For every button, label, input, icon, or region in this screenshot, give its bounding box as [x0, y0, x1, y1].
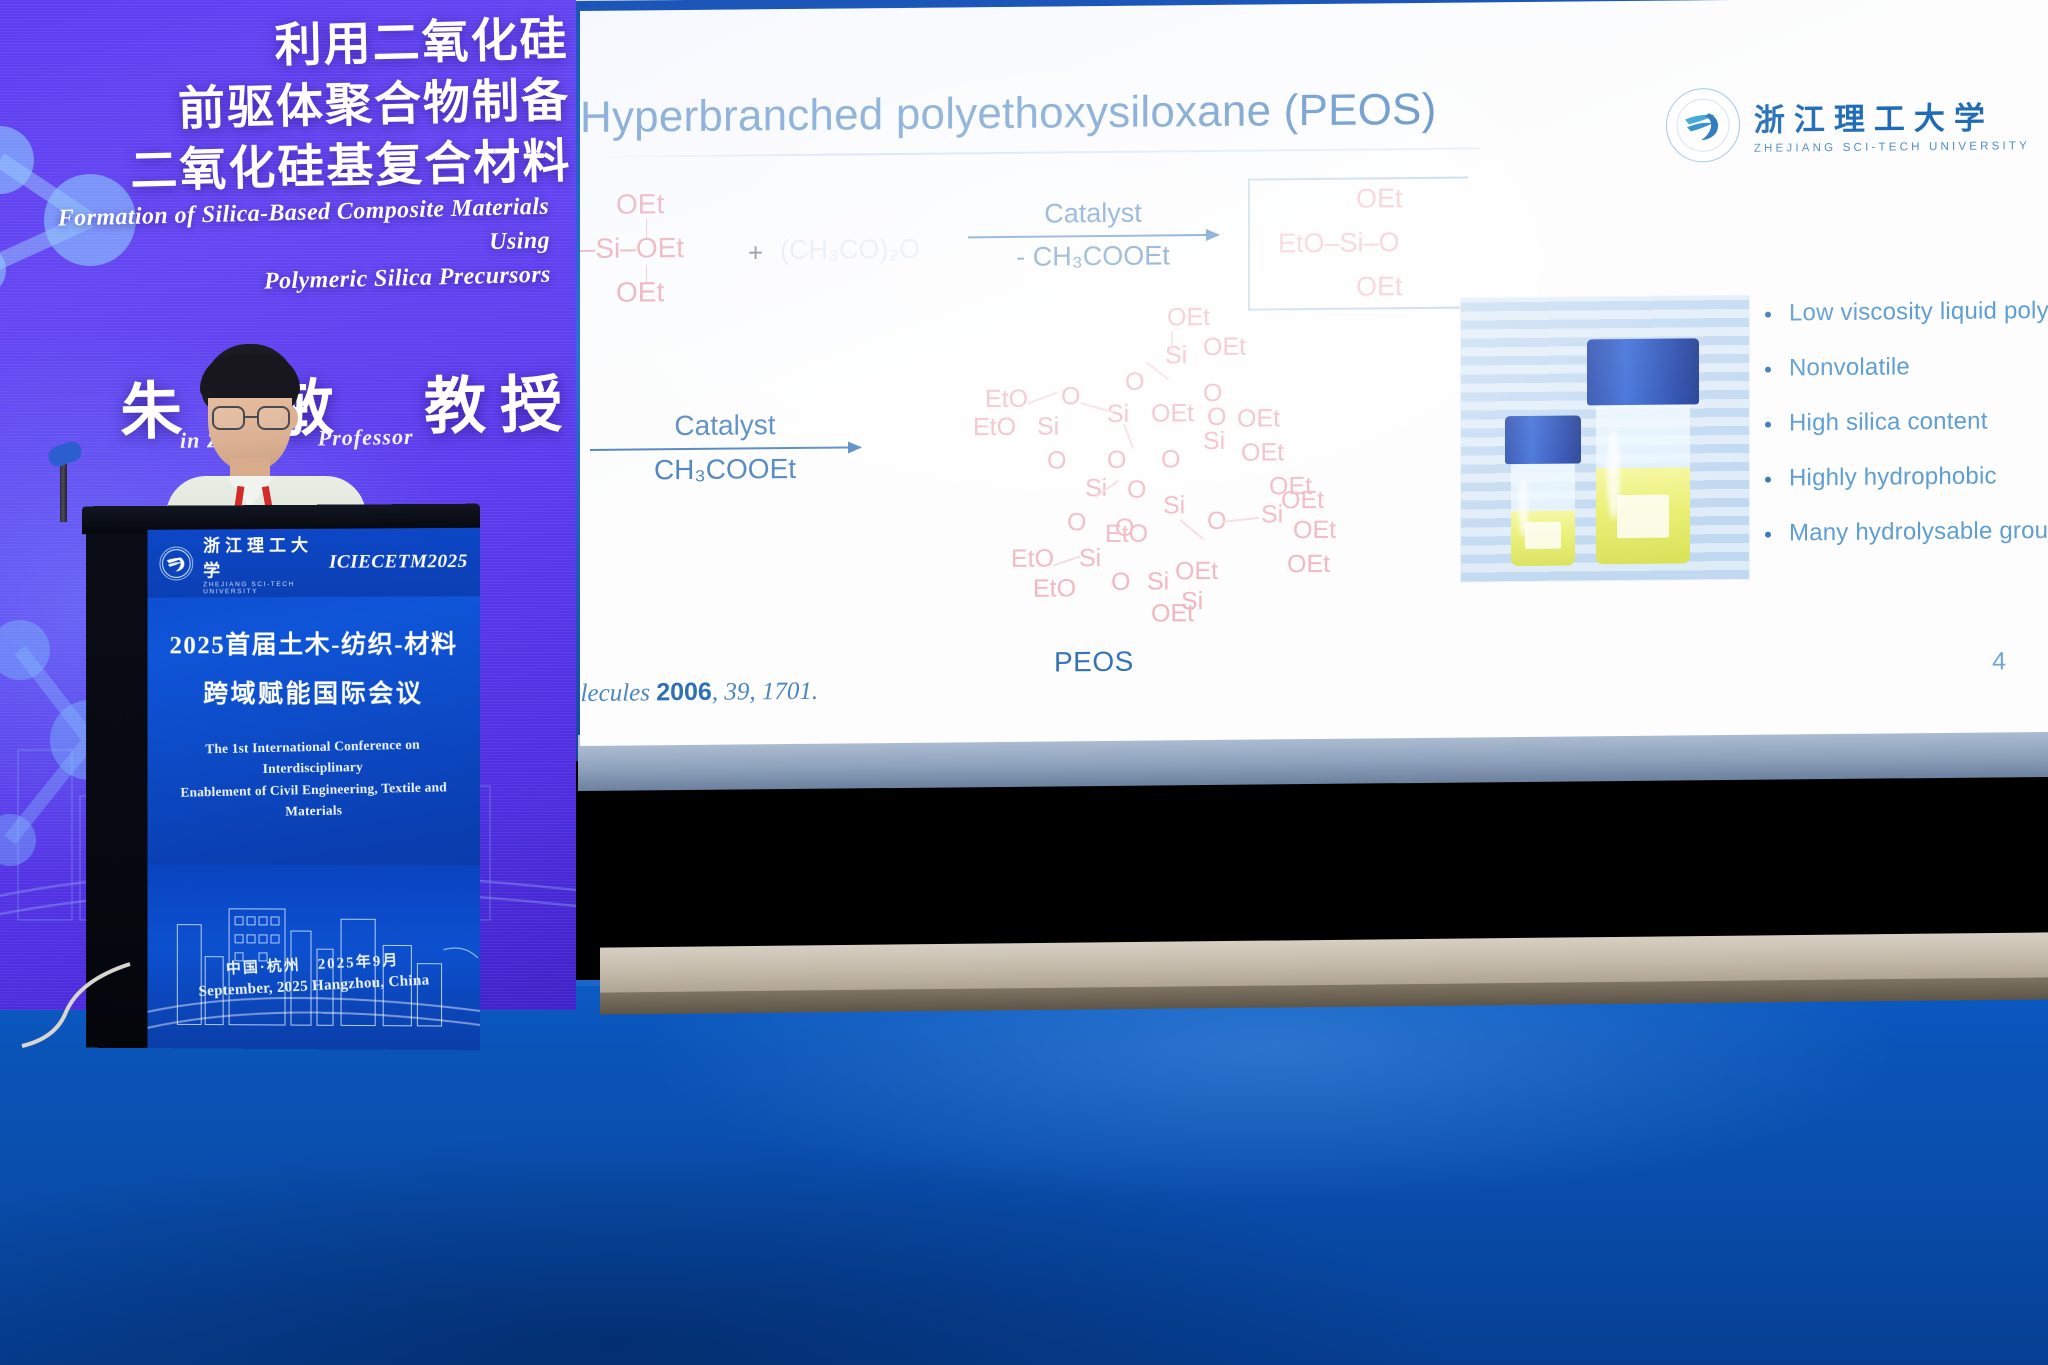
conference-photo: Hyperbranched polyethoxysiloxane (PEOS) … — [0, 0, 2048, 1365]
bullet-dot-icon — [1765, 422, 1771, 428]
speaker-hair-front — [200, 354, 300, 398]
bottle-label — [1617, 494, 1670, 537]
teos-backbone: O–Si–OEt — [580, 234, 684, 263]
teos-oet-bottom: OEt — [616, 278, 664, 306]
peos-atom: EtO — [1011, 544, 1054, 573]
podium: 浙江理工大学 ZHEJIANG SCI-TECH UNIVERSITY ICIE… — [86, 504, 476, 1047]
presentation-slide: Hyperbranched polyethoxysiloxane (PEOS) … — [580, 0, 2048, 746]
podium-header: 浙江理工大学 ZHEJIANG SCI-TECH UNIVERSITY ICIE… — [148, 528, 480, 598]
university-name-en: ZHEJIANG SCI-TECH UNIVERSITY — [1754, 140, 2030, 155]
list-item: Nonvolatile — [1765, 352, 2048, 383]
feature-bullet-list: Low viscosity liquid polymer Nonvolatile… — [1765, 297, 2048, 575]
podium-logo-text: 浙江理工大学 ZHEJIANG SCI-TECH UNIVERSITY — [203, 531, 319, 596]
bottle-large — [1587, 338, 1699, 564]
peos-atom: OEt — [1151, 599, 1194, 628]
reaction-arrow-bottom: Catalyst CH₃COOEt — [590, 408, 860, 487]
peos-atom: EtO — [1105, 520, 1148, 549]
podium-microphone — [46, 452, 86, 522]
peos-atom: Si — [1203, 427, 1225, 456]
catalyst-label-top: Catalyst — [968, 197, 1218, 230]
peos-atom: O — [1107, 446, 1126, 475]
peos-atom: O — [1061, 382, 1080, 411]
peos-atom: Si — [1163, 491, 1185, 520]
slide-citation: molecules 2006, 39, 1701. — [580, 677, 818, 709]
podium-university-cn: 浙江理工大学 — [203, 531, 319, 582]
university-name-block: 浙江理工大学 ZHEJIANG SCI-TECH UNIVERSITY — [1754, 92, 2030, 155]
conference-title-cn-line2: 跨域赋能国际会议 — [163, 674, 463, 711]
projection-screen: Hyperbranched polyethoxysiloxane (PEOS) … — [580, 0, 2048, 746]
peos-atom: Si — [1165, 341, 1187, 370]
bullet-dot-icon — [1765, 477, 1771, 483]
university-name-cn: 浙江理工大学 — [1754, 92, 2030, 140]
arrow-shaft-icon — [968, 234, 1218, 238]
conference-title-en: The 1st International Conference on Inte… — [163, 733, 465, 825]
bullet-label: Low viscosity liquid polymer — [1789, 297, 2048, 328]
list-item: Many hydrolysable groups — [1765, 517, 2048, 548]
peos-atom: OEt — [1241, 438, 1284, 467]
citation-journal: molecules — [580, 679, 656, 707]
speaker-eyeglasses — [212, 406, 294, 432]
peos-molecule-diagram: OEt Si OEt EtO O O O EtO Si Si OEt O OEt… — [975, 303, 1435, 637]
list-item: High silica content — [1765, 407, 2048, 438]
bullet-label: Many hydrolysable groups — [1789, 517, 2048, 548]
peos-atom: OEt — [1237, 404, 1280, 433]
peos-atom: EtO — [973, 413, 1016, 442]
slide-title: Hyperbranched polyethoxysiloxane (PEOS) — [580, 86, 1320, 143]
peos-atom: OEt — [1151, 399, 1194, 428]
university-logo: 浙江理工大学 ZHEJIANG SCI-TECH UNIVERSITY — [1666, 85, 2030, 162]
citation-detail: , 39, 1701. — [712, 678, 818, 706]
podium-university-en: ZHEJIANG SCI-TECH UNIVERSITY — [203, 581, 319, 596]
peos-atom: OEt — [1287, 550, 1330, 579]
conference-code: ICIECETM2025 — [329, 551, 468, 574]
peos-atom: OEt — [1175, 557, 1218, 586]
banner-subtitle-line: Formation of Silica-Based Composite Mate… — [29, 190, 551, 271]
list-item: Low viscosity liquid polymer — [1765, 297, 2048, 328]
peos-atom: O — [1125, 368, 1144, 397]
bullet-label: Highly hydrophobic — [1789, 462, 1997, 492]
arrow-shaft-icon-2 — [590, 446, 860, 451]
zstu-emblem-icon-podium — [159, 546, 193, 580]
peos-atom: Si — [1079, 544, 1101, 573]
byproduct-label-top: - CH₃COOEt — [968, 240, 1218, 273]
peos-atom: EtO — [1033, 574, 1076, 603]
bottle-glass — [1596, 398, 1690, 564]
glasses-lens-left — [212, 406, 245, 430]
bullet-label: High silica content — [1789, 408, 1988, 438]
teos-oet-top: OEt — [616, 190, 664, 218]
peos-atom: Si — [1037, 412, 1059, 441]
peos-atom: OEt — [1269, 472, 1312, 501]
peos-atom: EtO — [985, 385, 1028, 414]
product-oet-top: OEt — [1356, 185, 1403, 212]
bullet-dot-icon — [1765, 312, 1771, 318]
floor-cable — [20, 960, 140, 1050]
podium-front-panel: 浙江理工大学 ZHEJIANG SCI-TECH UNIVERSITY ICIE… — [148, 528, 480, 1051]
bullet-label: Nonvolatile — [1789, 353, 1910, 382]
peos-sample-photo — [1460, 295, 1750, 583]
bullet-dot-icon — [1765, 367, 1771, 373]
conference-title-cn-line1: 2025首届土木-纺织-材料 — [163, 624, 463, 661]
peos-atom: OEt — [1167, 303, 1210, 332]
banner-subtitle: Formation of Silica-Based Composite Mate… — [29, 190, 551, 305]
peos-atom: Si — [1107, 400, 1129, 429]
reaction-scheme-top: OEt O–Si–OEt OEt + (CH₃CO)₂O Catalyst - … — [588, 179, 1588, 314]
bottle-glass — [1511, 459, 1575, 566]
peos-atom: O — [1047, 446, 1066, 475]
conference-title-en-line1: The 1st International Conference on Inte… — [163, 733, 464, 782]
glasses-bridge — [245, 416, 257, 418]
bottle-label — [1525, 521, 1561, 549]
title-underline — [580, 147, 1480, 158]
peos-atom: Si — [1261, 500, 1283, 529]
glasses-lens-right — [257, 406, 290, 430]
list-item: Highly hydrophobic — [1765, 462, 2048, 493]
bottle-highlight — [1519, 479, 1528, 537]
bottle-cap — [1505, 415, 1581, 464]
product-backbone: EtO–Si–O — [1278, 229, 1400, 257]
peos-atom: OEt — [1203, 333, 1246, 362]
podium-city-graphic: 中国·杭州 2025年9月 September, 2025 Hangzhou, … — [148, 865, 480, 1051]
byproduct-label-bottom: CH₃COOEt — [590, 452, 860, 487]
conference-title-en-line2: Enablement of Civil Engineering, Textile… — [163, 776, 464, 825]
bottle-small — [1505, 415, 1581, 566]
reaction-arrow-top: Catalyst - CH₃COOEt — [968, 197, 1218, 273]
peos-atom: O — [1067, 508, 1086, 537]
peos-atom: O — [1111, 568, 1130, 597]
peos-atom: O — [1127, 476, 1146, 505]
peos-atom: O — [1161, 445, 1180, 474]
bottle-cap — [1587, 338, 1699, 405]
zstu-emblem-icon — [1666, 88, 1740, 163]
catalyst-label-bottom: Catalyst — [590, 408, 860, 443]
peos-atom: OEt — [1293, 516, 1336, 545]
citation-year: 2006 — [656, 678, 712, 707]
peos-atom: Si — [1147, 567, 1169, 596]
acetic-anhydride-formula: (CH₃CO)₂O — [780, 234, 920, 266]
plus-sign: + — [748, 237, 763, 268]
banner-title: 利用二氧化硅 前驱体聚合物制备 二氧化硅基复合材料 — [38, 8, 572, 203]
product-oet-bottom: OEt — [1356, 273, 1403, 300]
peos-caption: PEOS — [1054, 646, 1134, 679]
slide-page-number: 4 — [1992, 647, 2006, 676]
bullet-dot-icon — [1765, 532, 1771, 538]
